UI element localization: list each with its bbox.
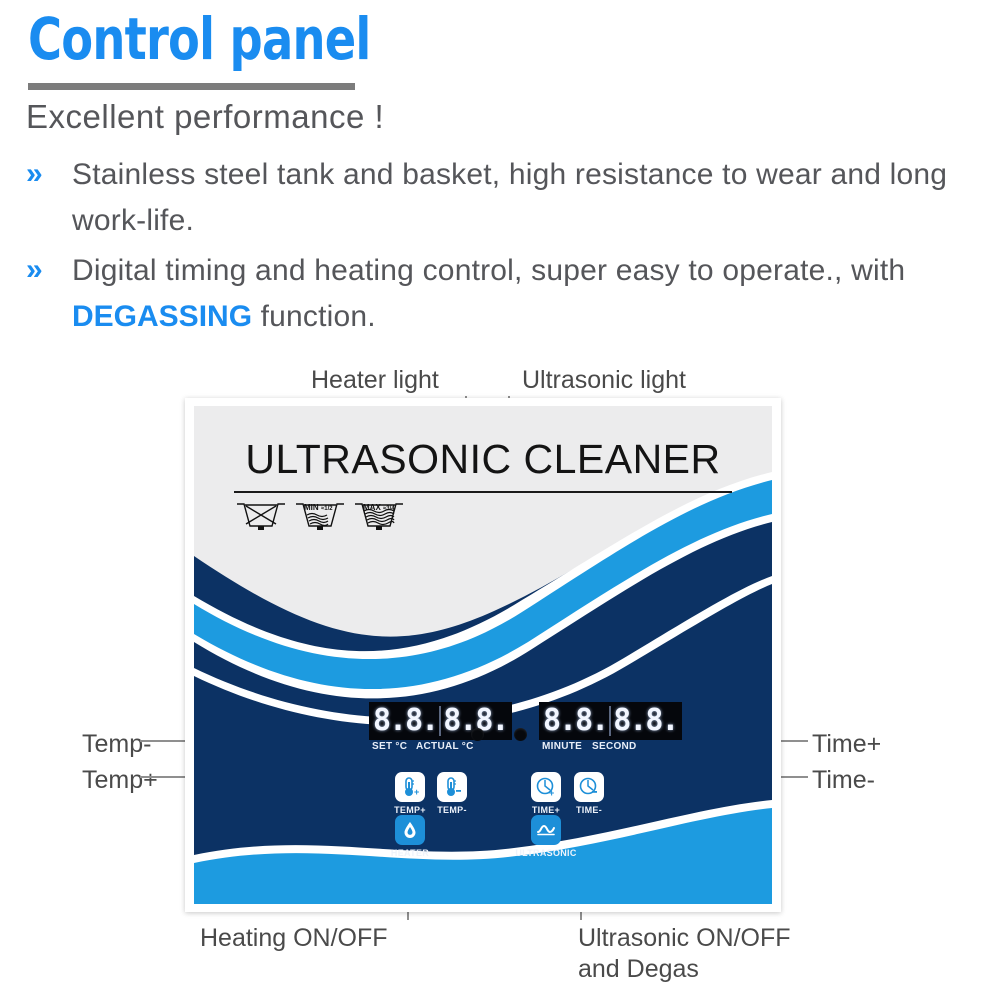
temperature-display: 8.8. 8.8. [369,702,512,740]
callout-ultrasonic-on-off-and-degas: Ultrasonic ON/OFF and Degas [578,923,808,985]
clock-plus-icon: + [535,776,557,798]
caption-actual-celsius: ACTUAL °C [416,741,474,753]
ultrasonic-label: ULTRASONIC [500,848,592,859]
page-title: Control panel [28,8,371,70]
feature-bullet-text: Digital timing and heating control, supe… [72,248,986,340]
subtitle: Excellent performance ! [26,95,384,139]
thermometer-minus-icon [441,776,463,798]
control-panel-face: ULTRASONIC CLEANER [194,406,772,904]
temp-plus-button[interactable]: + [395,772,425,802]
temp-minus-label: TEMP- [422,805,482,816]
temp-set-digits: 8.8. [372,704,438,738]
wave-icon [535,819,557,841]
max-level-fraction: ≈3/4 [383,506,395,512]
callout-temp-plus: Temp+ [82,765,158,796]
callout-time-minus: Time- [812,765,875,796]
min-level-fraction: ≈1/2 [321,506,333,512]
bullet-text-segment: Digital timing and heating control, supe… [72,254,905,287]
bullet-emphasis-degassing: DEGASSING [72,300,252,333]
feature-bullet: » Digital timing and heating control, su… [26,248,986,340]
water-drop-icon [400,820,420,840]
time-plus-button[interactable]: + [531,772,561,802]
panel-brand-rule [234,491,732,493]
callout-temp-minus: Temp- [82,729,151,760]
clock-minus-icon [578,776,600,798]
heater-button[interactable] [395,815,425,845]
control-panel-device: ULTRASONIC CLEANER [185,398,781,912]
bullet-text-segment-tail: function. [252,300,376,333]
svg-text:+: + [414,787,419,797]
time-minus-label: TIME- [559,805,619,816]
caption-set-celsius: SET °C [372,741,407,753]
bullet-text-segment: Stainless steel tank and basket, high re… [72,158,947,237]
feature-bullet-text: Stainless steel tank and basket, high re… [72,152,986,244]
ultrasonic-button[interactable] [531,815,561,845]
display-divider [439,706,441,736]
temp-minus-button[interactable] [437,772,467,802]
callout-time-plus: Time+ [812,729,881,760]
min-level-label: MIN [304,503,319,512]
display-divider [609,706,611,736]
heater-led [471,728,484,741]
marketing-header: Control panel Excellent performance ! » … [0,0,1000,360]
callout-ultrasonic-light: Ultrasonic light [522,365,686,396]
basket-level-icons: MIN ≈1/2 MAX ≈3/4 [234,498,424,538]
ultrasonic-led [514,728,527,741]
timer-display: 8.8. 8.8. [539,702,682,740]
caption-minute: MINUTE [542,741,582,753]
timer-minute-digits: 8.8. [542,704,608,738]
callout-heater-light: Heater light [311,365,439,396]
double-chevron-icon: » [26,248,72,287]
max-level-label: MAX [363,503,381,512]
title-underline-rule [28,83,355,90]
thermometer-plus-icon: + [399,776,421,798]
panel-brand-title: ULTRASONIC CLEANER [194,436,772,483]
callout-heating-on-off: Heating ON/OFF [200,923,388,954]
double-chevron-icon: » [26,152,72,191]
timer-second-digits: 8.8. [612,704,678,738]
caption-second: SECOND [592,741,637,753]
time-minus-button[interactable] [574,772,604,802]
feature-bullet: » Stainless steel tank and basket, high … [26,152,986,244]
svg-text:+: + [549,788,554,798]
heater-label: HEATER [375,848,445,859]
